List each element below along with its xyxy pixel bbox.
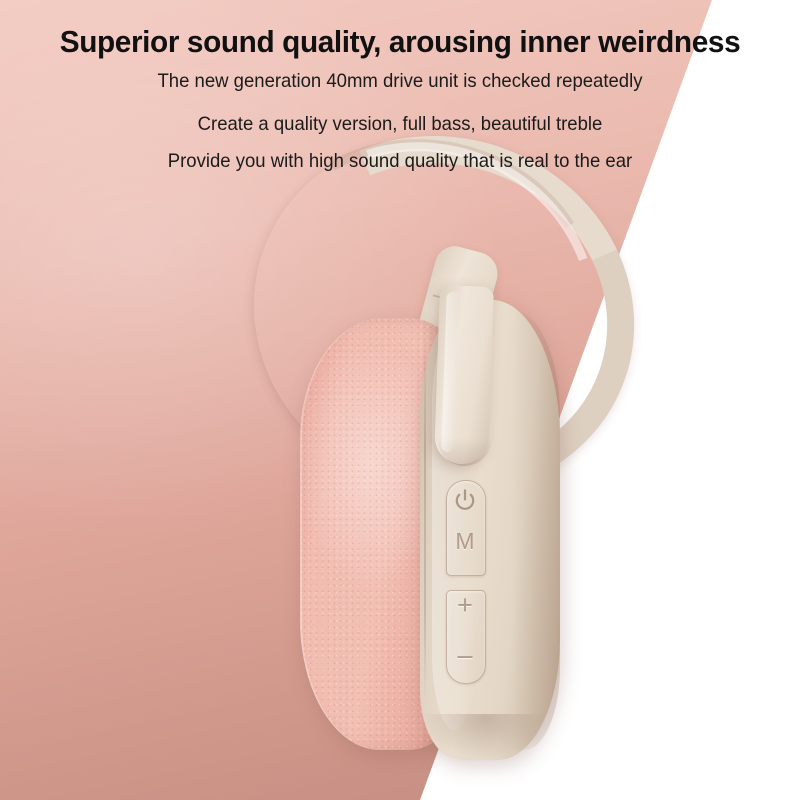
subheadline-line-3: Provide you with high sound quality that…: [20, 150, 780, 173]
volume-down-button-label[interactable]: –: [446, 642, 484, 669]
page-title: Superior sound quality, arousing inner w…: [16, 24, 784, 60]
subheadline-line-2: Create a quality version, full bass, bea…: [20, 113, 780, 136]
volume-up-button-label[interactable]: +: [446, 592, 484, 619]
mode-button-label[interactable]: M: [446, 528, 484, 555]
product-poster: M + – Superior sound quality, arousing i…: [0, 0, 800, 800]
subheadline-line-1: The new generation 40mm drive unit is ch…: [20, 70, 780, 93]
power-icon[interactable]: [452, 487, 478, 513]
ear-cup-yoke-strap: [434, 285, 494, 465]
